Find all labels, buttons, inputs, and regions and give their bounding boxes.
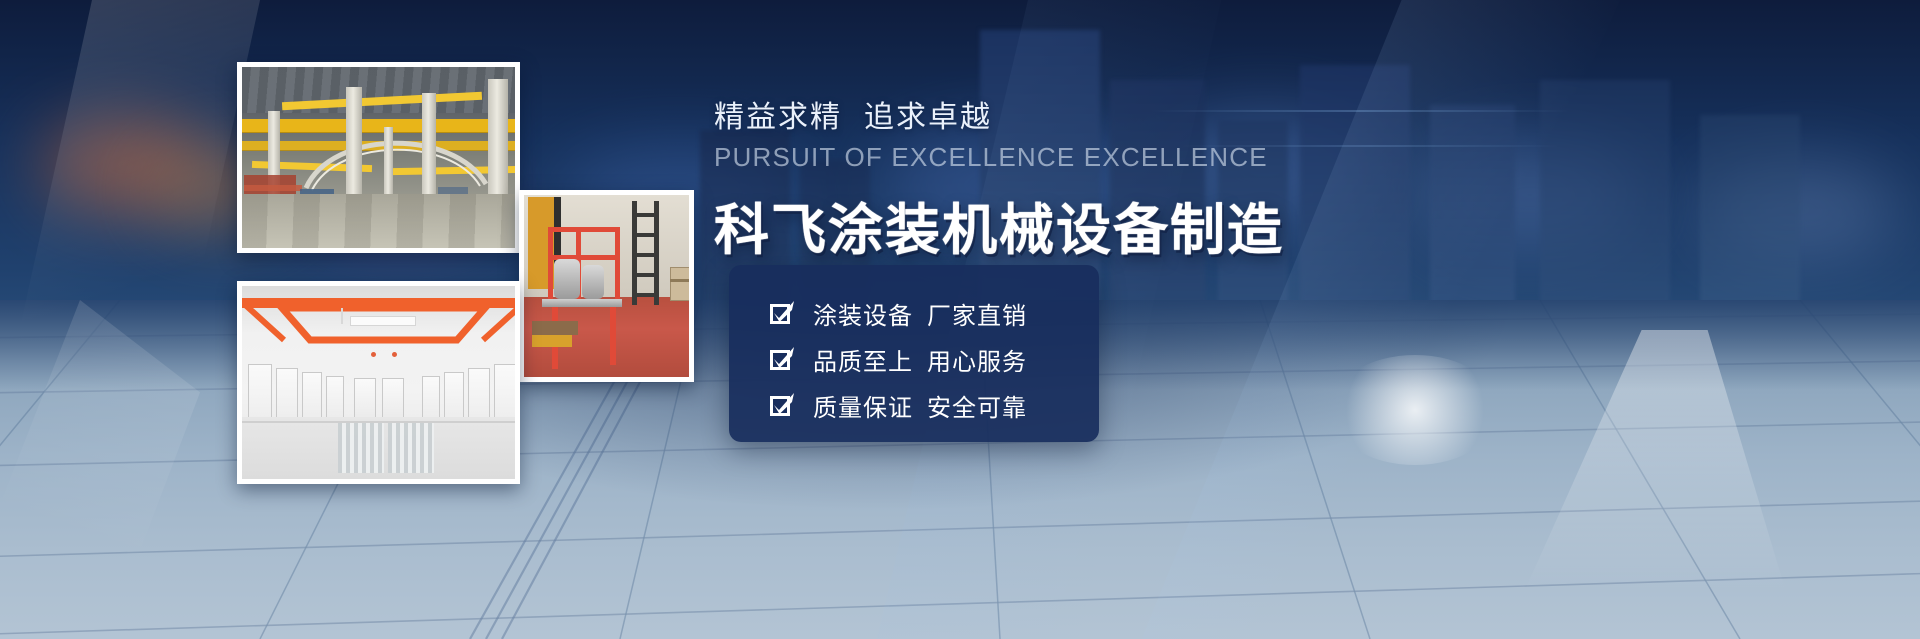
tagline-chinese: 精益求精追求卓越 <box>714 92 1354 136</box>
feature-text-part1: 品质至上 <box>813 349 913 376</box>
feature-text-part1: 质量保证 <box>813 395 913 422</box>
feature-item: 涂装设备厂家直销 <box>769 291 1099 335</box>
feature-panel: 涂装设备厂家直销 品质至上用心服务 <box>729 265 1099 442</box>
feature-text: 涂装设备厂家直销 <box>813 296 1027 331</box>
promo-banner: 精益求精追求卓越 PURSUIT OF EXCELLENCE EXCELLENC… <box>0 0 1920 639</box>
feature-text-part2: 安全可靠 <box>927 395 1027 422</box>
feature-text: 质量保证安全可靠 <box>813 388 1027 423</box>
tagline-english: PURSUIT OF EXCELLENCE EXCELLENCE <box>714 142 1354 173</box>
checkbox-checked-icon <box>769 346 795 372</box>
tagline-part-2: 追求卓越 <box>864 101 992 134</box>
factory-conveyor-hall-photo <box>237 62 520 253</box>
checkbox-checked-icon <box>769 392 795 418</box>
feature-text-part2: 厂家直销 <box>927 303 1027 330</box>
checkbox-checked-icon <box>769 300 795 326</box>
feature-item: 品质至上用心服务 <box>769 337 1099 381</box>
feature-text: 品质至上用心服务 <box>813 342 1027 377</box>
floor-glow <box>1330 355 1500 465</box>
headline-block: 精益求精追求卓越 PURSUIT OF EXCELLENCE EXCELLENC… <box>714 92 1354 265</box>
workshop-red-cart-photo <box>519 190 694 382</box>
feature-text-part1: 涂装设备 <box>813 303 913 330</box>
page-title: 科飞涂装机械设备制造 <box>714 185 1354 265</box>
feature-text-part2: 用心服务 <box>927 349 1027 376</box>
feature-item: 质量保证安全可靠 <box>769 383 1099 427</box>
spray-booth-interior-photo <box>237 281 520 484</box>
tagline-part-1: 精益求精 <box>714 101 842 134</box>
